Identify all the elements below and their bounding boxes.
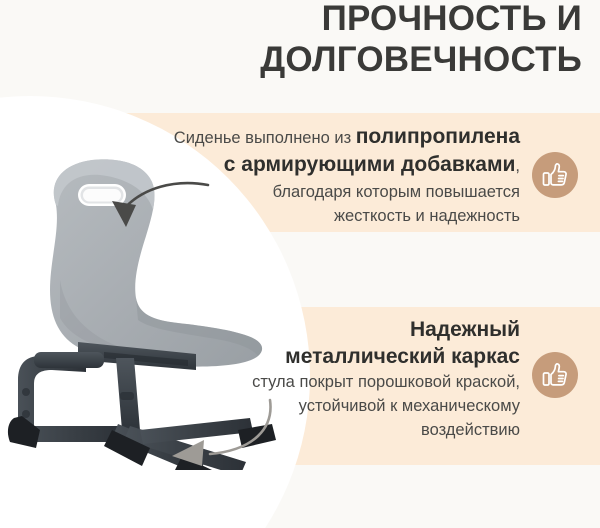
thumbs-up-icon (541, 361, 569, 389)
feature-1-line-1: Сиденье выполнено из полипропилена (102, 124, 520, 151)
feature-2-bold-2: металлический каркас (190, 343, 520, 370)
header-band: ПРОЧНОСТЬ И ДОЛГОВЕЧНОСТЬ (0, 0, 600, 113)
infographic-canvas: ПРОЧНОСТЬ И ДОЛГОВЕЧНОСТЬ (0, 0, 600, 528)
feature-2-rest-3: воздействию (190, 418, 520, 442)
feature-text-metal-frame: Надежный металлический каркас стула покр… (190, 316, 520, 442)
feature-1-comma: , (515, 157, 520, 175)
feature-2-rest-1: стула покрыт порошковой краской, (190, 370, 520, 394)
feature-2-bold-1: Надежный (190, 316, 520, 343)
feature-1-rest-2: жесткость и надежность (102, 204, 520, 228)
feature-1-lead: Сиденье выполнено из (174, 129, 356, 147)
feature-1-bold-2: с армирующими добавками (224, 153, 516, 176)
thumbs-up-badge-1 (532, 152, 578, 198)
feature-1-rest-1: благодаря которым повышается (102, 180, 520, 204)
feature-1-line-2: с армирующими добавками, (102, 151, 520, 180)
feature-text-seat-material: Сиденье выполнено из полипропилена с арм… (102, 124, 520, 228)
feature-2-rest-2: устойчивой к механическому (190, 394, 520, 418)
thumbs-up-icon (541, 161, 569, 189)
thumbs-up-badge-2 (532, 352, 578, 398)
feature-1-bold-1: полипропилена (356, 125, 520, 148)
page-title: ПРОЧНОСТЬ И ДОЛГОВЕЧНОСТЬ (152, 0, 582, 80)
